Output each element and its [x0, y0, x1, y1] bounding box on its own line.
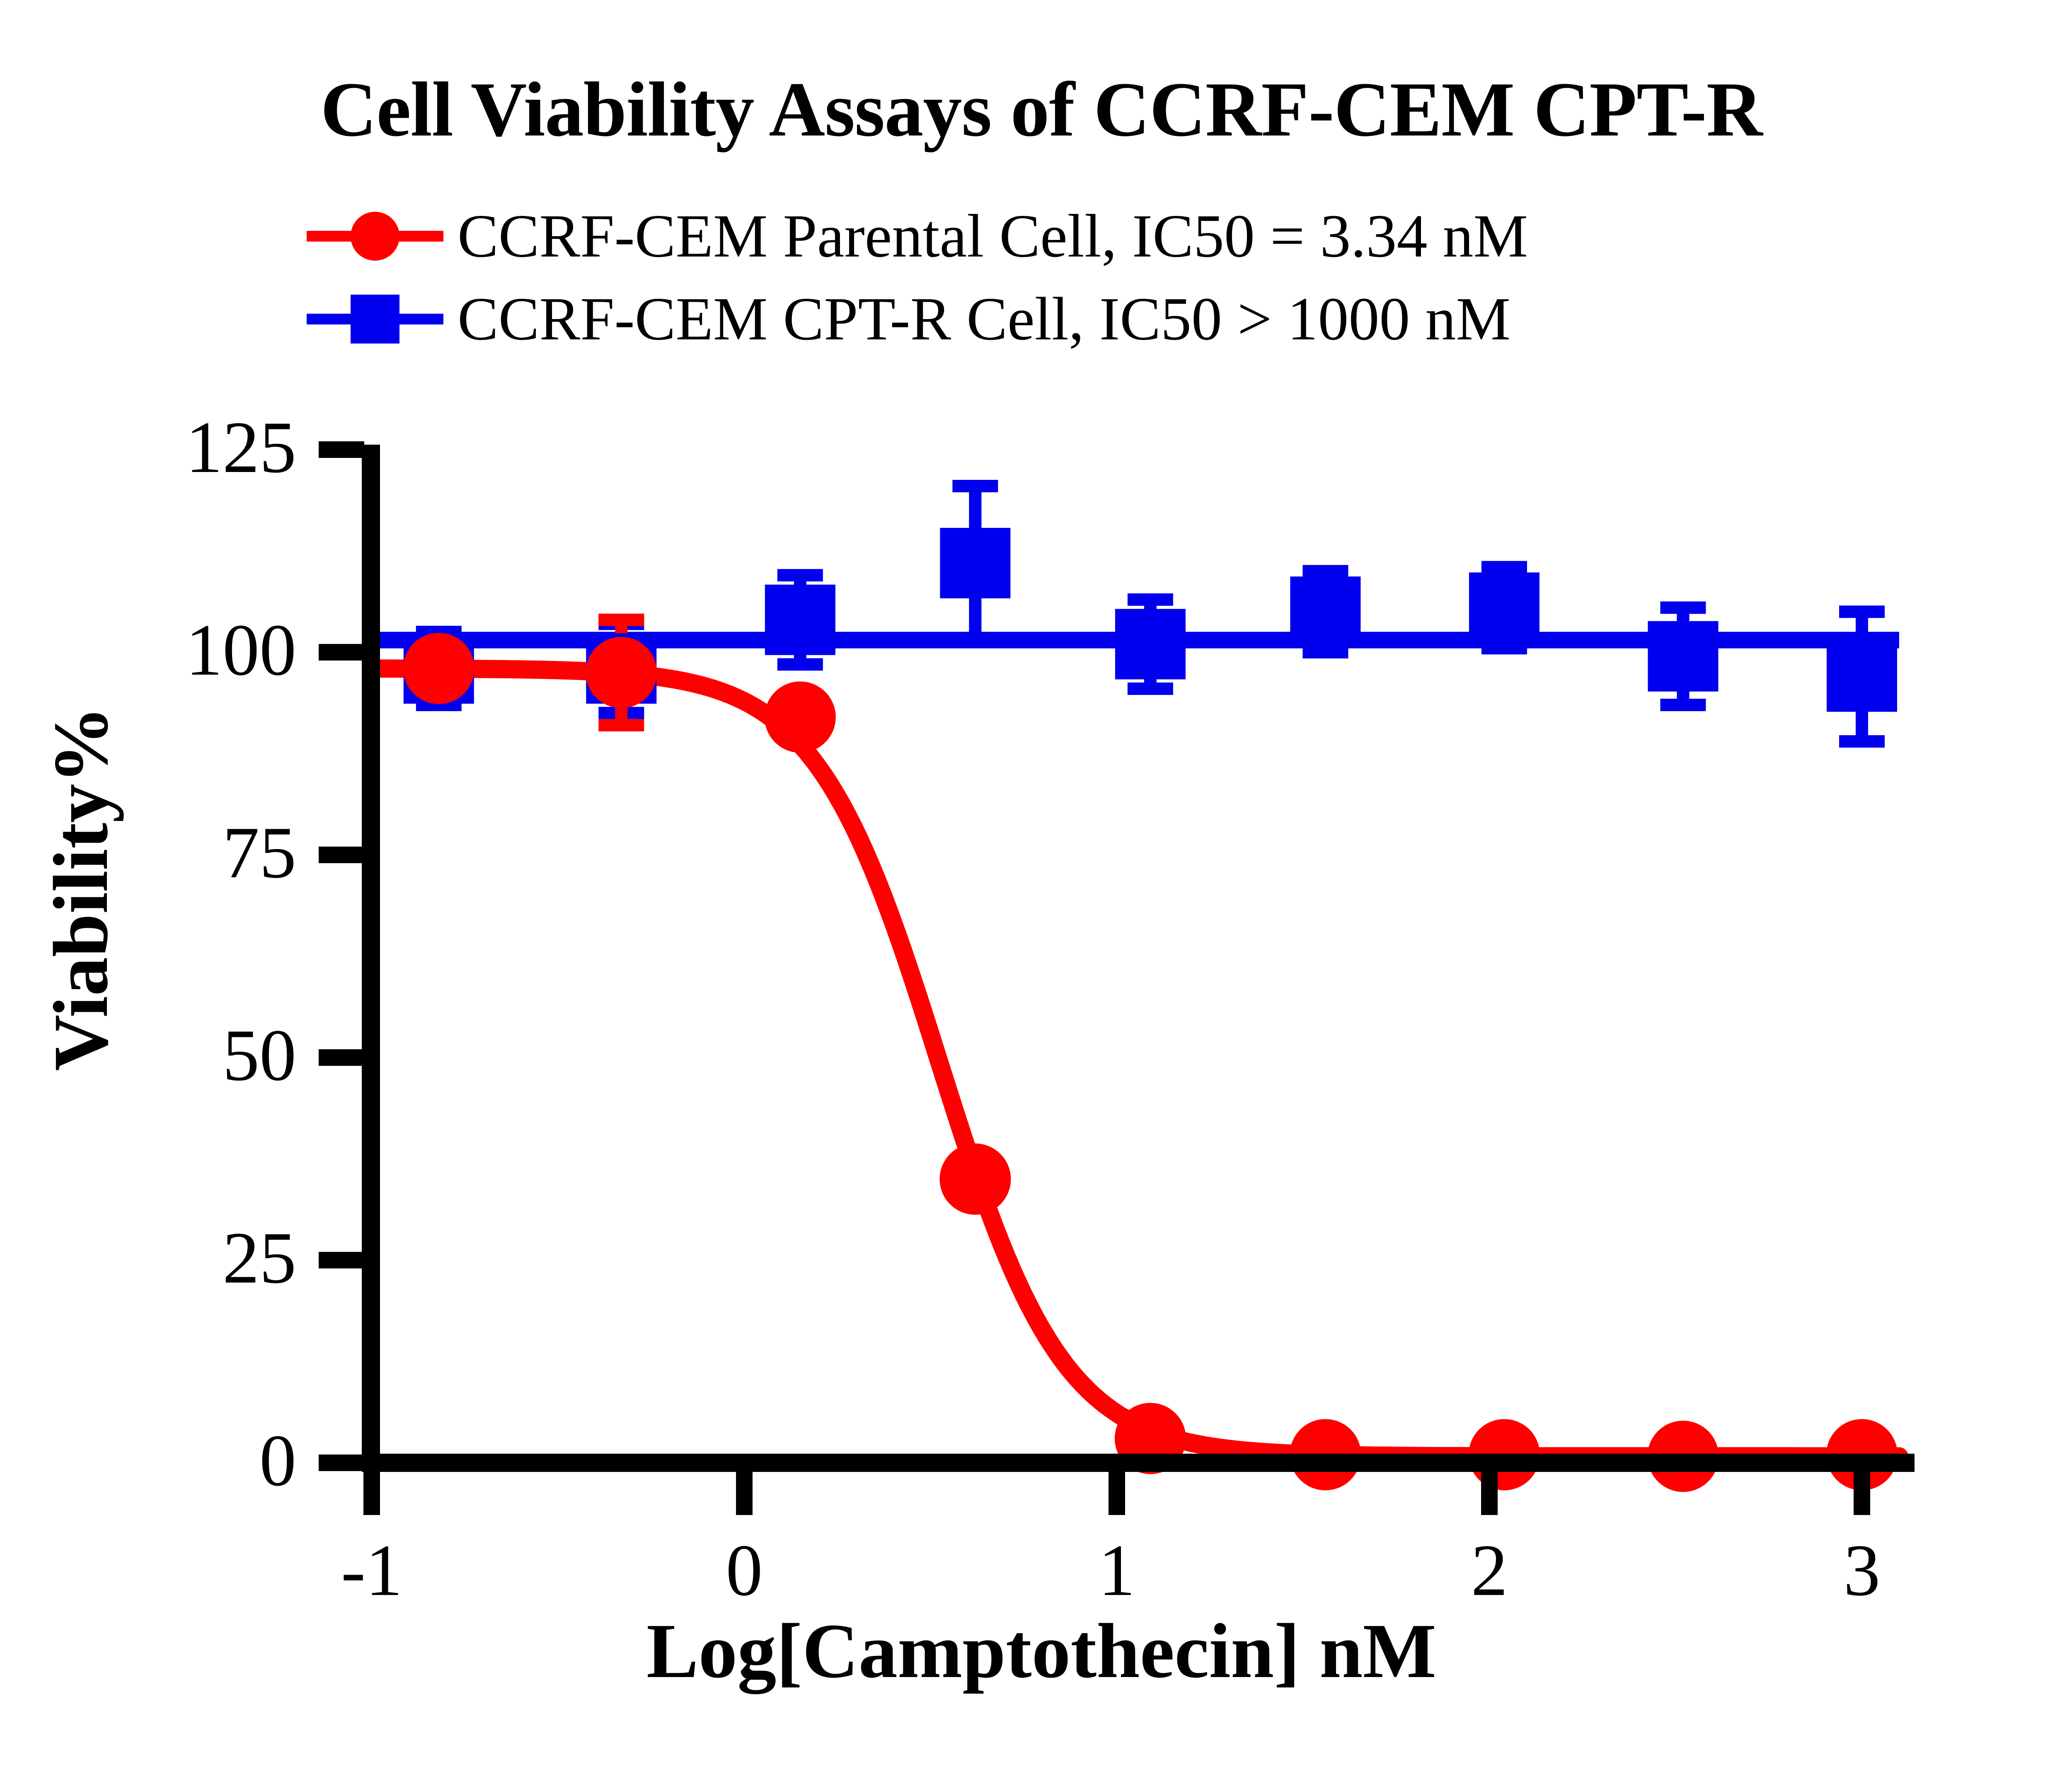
data-point-cptr [1648, 621, 1718, 692]
data-point-cptr [1115, 609, 1186, 679]
y-tick-label: 75 [122, 816, 296, 889]
data-point-cptr [765, 585, 835, 655]
chart-figure: Cell Viability Assays of CCRF-CEM CPT-R … [0, 0, 2072, 1791]
x-axis-title: Log[Camptothecin] nM [0, 1612, 2072, 1690]
y-tick-label: 125 [122, 410, 296, 484]
y-tick-label: 50 [122, 1018, 296, 1092]
x-tick-label: 2 [1427, 1533, 1552, 1607]
y-tick-mark [319, 1455, 364, 1471]
x-tick-label: -1 [310, 1533, 434, 1607]
data-point-parental [403, 633, 474, 704]
x-axis-line [362, 1454, 1915, 1472]
markers-parental [403, 633, 1898, 1492]
plot-area: 1251007550250 -10123 [0, 0, 2072, 1791]
x-tick-mark [363, 1470, 380, 1515]
x-tick-mark [736, 1470, 753, 1515]
data-point-cptr [1290, 576, 1360, 647]
y-axis-title: Viability% [42, 598, 120, 1179]
data-point-cptr [1469, 572, 1539, 643]
y-tick-mark [319, 441, 364, 458]
y-tick-mark [319, 1049, 364, 1066]
x-tick-label: 1 [1055, 1533, 1179, 1607]
x-tick-label: 3 [1800, 1533, 1924, 1607]
plot-svg [0, 0, 2072, 1791]
y-tick-mark [319, 644, 364, 661]
data-point-parental [939, 1143, 1011, 1215]
series-line-parental [372, 668, 1899, 1456]
x-tick-mark [1854, 1470, 1870, 1515]
data-point-cptr [1827, 641, 1897, 712]
y-tick-label: 25 [122, 1221, 296, 1295]
x-tick-mark [1109, 1470, 1125, 1515]
data-point-parental [765, 681, 836, 753]
y-tick-mark [319, 847, 364, 863]
x-tick-label: 0 [682, 1533, 806, 1607]
y-tick-label: 100 [122, 613, 296, 687]
data-point-cptr [940, 528, 1010, 598]
y-tick-mark [319, 1252, 364, 1268]
y-axis-line [362, 445, 380, 1472]
x-tick-mark [1481, 1470, 1498, 1515]
data-point-parental [586, 637, 657, 708]
y-tick-label: 0 [122, 1423, 296, 1497]
